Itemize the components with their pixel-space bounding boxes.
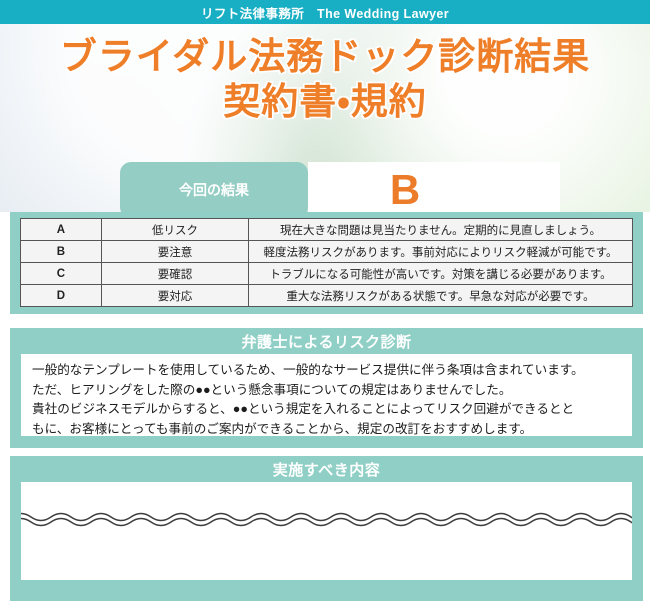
result-row: 今回の結果 B bbox=[120, 162, 560, 212]
result-grade-value: B bbox=[390, 169, 420, 211]
rating-grade-cell: D bbox=[21, 285, 102, 307]
diagnosis-report-page: リフト法律事務所 The Wedding Lawyer ブライダル法務ドック診断… bbox=[0, 0, 650, 609]
rating-level-cell: 要注意 bbox=[102, 241, 249, 263]
rating-grade-cell: B bbox=[21, 241, 102, 263]
rating-level-cell: 要確認 bbox=[102, 263, 249, 285]
table-row: B 要注意 軽度法務リスクがあります。事前対応によりリスク軽減が可能です。 bbox=[21, 241, 633, 263]
risk-diagnosis-body: 一般的なテンプレートを使用しているため、一般的なサービス提供に伴う条項は含まれて… bbox=[21, 354, 632, 436]
wavy-divider-svg bbox=[21, 506, 632, 532]
rating-desc-cell: 現在大きな問題は見当たりません。定期的に見直しましょう。 bbox=[249, 219, 633, 241]
result-label-box: 今回の結果 bbox=[120, 162, 308, 212]
rating-table-panel: A 低リスク 現在大きな問題は見当たりません。定期的に見直しましょう。 B 要注… bbox=[10, 212, 643, 314]
risk-diagnosis-line-1: 一般的なテンプレートを使用しているため、一般的なサービス提供に伴う条項は含まれて… bbox=[32, 361, 621, 381]
risk-diagnosis-line-3: 貴社のビジネスモデルからすると、●●という規定を入れることによってリスク回避がで… bbox=[32, 400, 621, 420]
risk-diagnosis-heading-text: 弁護士によるリスク診断 bbox=[241, 331, 411, 352]
risk-diagnosis-heading: 弁護士によるリスク診断 bbox=[10, 328, 643, 354]
action-items-heading: 実施すべき内容 bbox=[10, 456, 643, 482]
page-title-line1: ブライダル法務ドック診断結果 bbox=[60, 36, 591, 77]
rating-desc-cell: トラブルになる可能性が高いです。対策を講じる必要があります。 bbox=[249, 263, 633, 285]
action-items-panel: 実施すべき内容 bbox=[10, 456, 643, 601]
top-brand-bar: リフト法律事務所 The Wedding Lawyer bbox=[0, 0, 650, 24]
rating-table: A 低リスク 現在大きな問題は見当たりません。定期的に見直しましょう。 B 要注… bbox=[20, 218, 633, 307]
rating-desc-cell: 軽度法務リスクがあります。事前対応によりリスク軽減が可能です。 bbox=[249, 241, 633, 263]
page-title: ブライダル法務ドック診断結果 契約書・規約 bbox=[0, 34, 650, 124]
result-label-text: 今回の結果 bbox=[179, 180, 249, 200]
firm-brand-text: リフト法律事務所 The Wedding Lawyer bbox=[201, 3, 449, 22]
table-row: A 低リスク 現在大きな問題は見当たりません。定期的に見直しましょう。 bbox=[21, 219, 633, 241]
risk-diagnosis-panel: 弁護士によるリスク診断 一般的なテンプレートを使用しているため、一般的なサービス… bbox=[10, 328, 643, 448]
wavy-divider-icon bbox=[21, 506, 632, 532]
risk-diagnosis-line-2: ただ、ヒアリングをした際の●●という懸念事項についての規定はありませんでした。 bbox=[32, 381, 621, 401]
result-grade-box: B bbox=[308, 162, 560, 212]
rating-desc-cell: 重大な法務リスクがある状態です。早急な対応が必要です。 bbox=[249, 285, 633, 307]
action-items-heading-text: 実施すべき内容 bbox=[273, 459, 380, 480]
table-row: C 要確認 トラブルになる可能性が高いです。対策を講じる必要があります。 bbox=[21, 263, 633, 285]
page-title-line2: 契約書・規約 bbox=[0, 79, 650, 124]
risk-diagnosis-text: 一般的なテンプレートを使用しているため、一般的なサービス提供に伴う条項は含まれて… bbox=[32, 361, 621, 440]
rating-grade-cell: A bbox=[21, 219, 102, 241]
rating-level-cell: 要対応 bbox=[102, 285, 249, 307]
rating-level-cell: 低リスク bbox=[102, 219, 249, 241]
action-items-body bbox=[21, 482, 632, 580]
table-row: D 要対応 重大な法務リスクがある状態です。早急な対応が必要です。 bbox=[21, 285, 633, 307]
rating-grade-cell: C bbox=[21, 263, 102, 285]
risk-diagnosis-line-4: もに、お客様にとっても事前のご案内ができることから、規定の改訂をおすすめします。 bbox=[32, 420, 621, 440]
hero-banner: ブライダル法務ドック診断結果 契約書・規約 今回の結果 B bbox=[0, 24, 650, 212]
